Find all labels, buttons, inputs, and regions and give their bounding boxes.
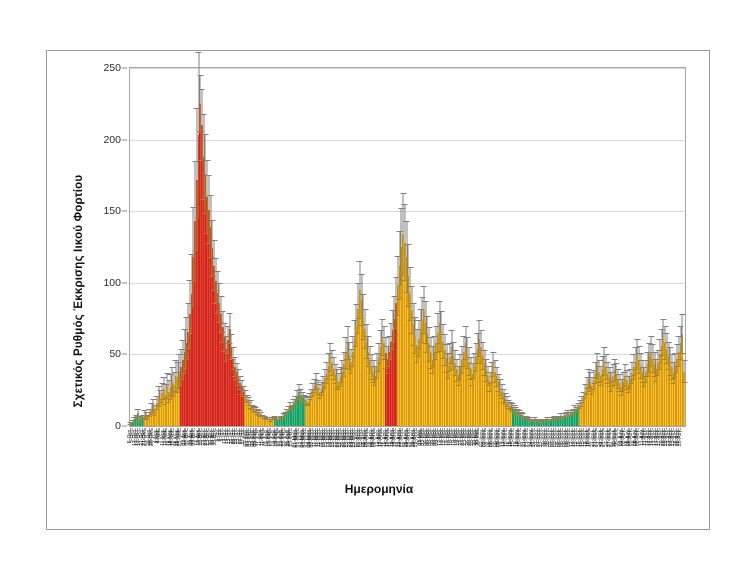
y-axis-tick-label: 250: [87, 62, 121, 74]
x-tick-slot: [682, 428, 684, 478]
y-axis-tick-mark: [122, 426, 127, 427]
y-axis-tick-label: 50: [87, 348, 121, 360]
y-axis-tick-mark: [122, 68, 127, 69]
chart-frame: Σχετικός Ρυθμός Έκκρισης Ιικού Φορτίου 0…: [46, 50, 710, 530]
error-bar-cap: [196, 52, 202, 53]
y-axis-tick-label: 200: [87, 134, 121, 146]
y-axis-tick-label: 150: [87, 205, 121, 217]
error-bar-cap: [681, 382, 687, 383]
error-bar-upper: [684, 360, 685, 371]
chart-page: Σχετικός Ρυθμός Έκκρισης Ιικού Φορτίου 0…: [0, 0, 734, 567]
error-bar-cap: [681, 360, 687, 361]
y-axis-tick-label: 100: [87, 277, 121, 289]
error-bar-lower: [684, 372, 685, 383]
plot-area: [129, 67, 686, 427]
bar-slot[interactable]: [683, 68, 685, 426]
y-axis-tick-mark: [122, 282, 127, 283]
y-axis-tick-mark: [122, 211, 127, 212]
y-axis-tick-mark: [122, 139, 127, 140]
y-axis-tick-mark: [122, 354, 127, 355]
y-axis-tick-label: 0: [87, 420, 121, 432]
x-axis-title: Ημερομηνία: [47, 479, 711, 499]
x-axis-ticks: 5-Οκτ5-Οκτ14-Οκτ14-Οκτ14-Οκτ21-Οκτ21-Οκτ…: [129, 428, 686, 478]
bars-layer: [130, 68, 685, 426]
y-axis-ticks: 050100150200250: [87, 67, 127, 427]
